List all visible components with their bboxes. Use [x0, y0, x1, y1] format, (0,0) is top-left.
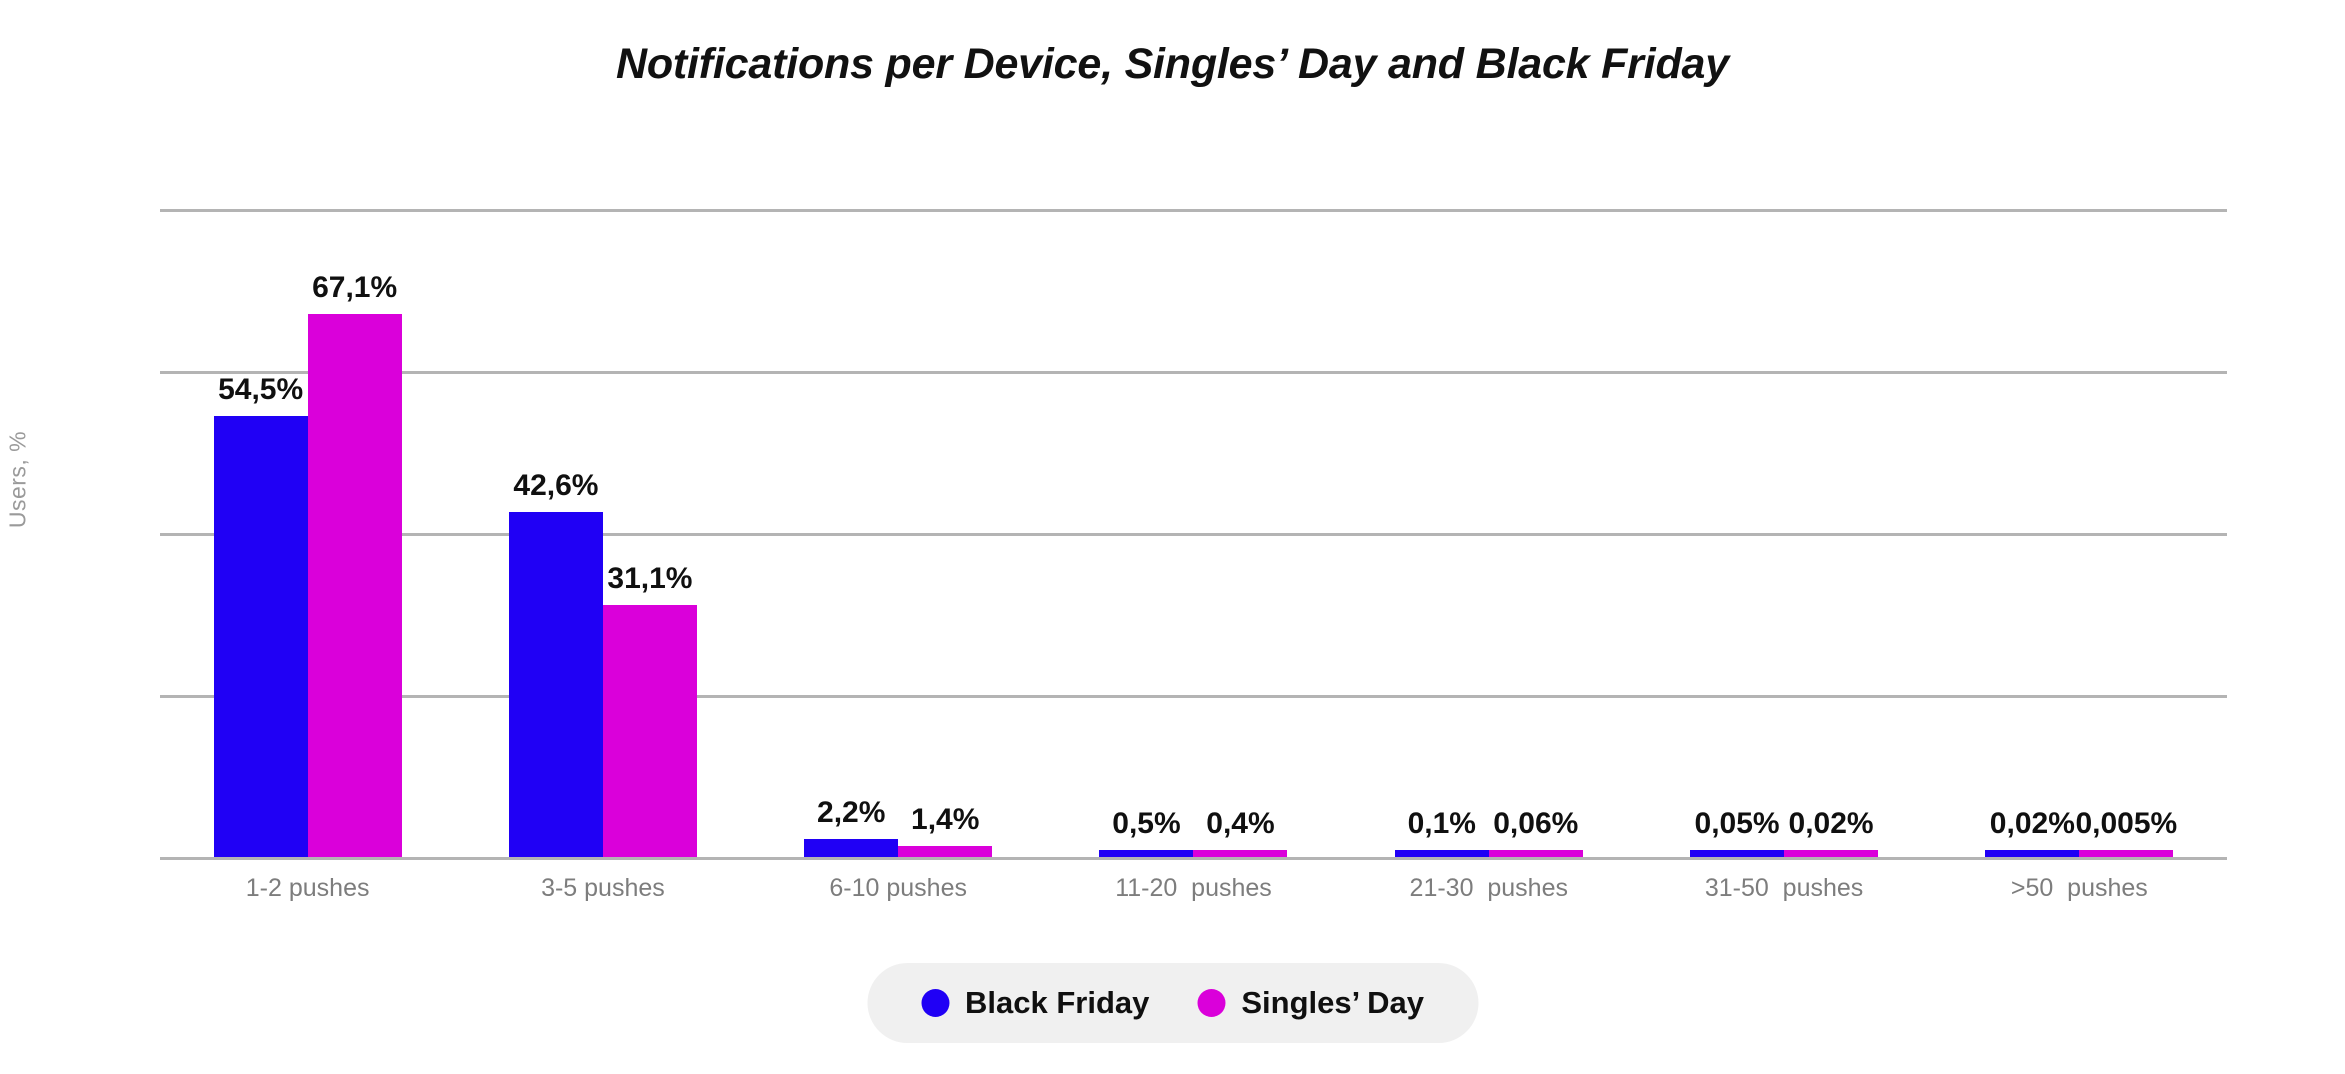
bar-value-label: 0,02% [1990, 807, 2075, 841]
bar-pair: 0,1%0,06% [1341, 195, 1636, 857]
bar-group: 54,5%67,1%1-2 pushes [160, 195, 455, 860]
bar[interactable]: 2,2% [804, 839, 898, 857]
bar-value-label: 2,2% [817, 796, 885, 830]
x-axis-category-label: 11-20 pushes [1046, 874, 1341, 903]
bar-value-label: 54,5% [218, 373, 303, 407]
bar-value-label: 0,005% [2075, 807, 2177, 841]
bar-value-label: 0,06% [1493, 807, 1578, 841]
x-axis-category-label: 3-5 pushes [455, 874, 750, 903]
x-axis-category-label: 31-50 pushes [1636, 874, 1931, 903]
plot-area: 20%40%60%80% 54,5%67,1%1-2 pushes42,6%31… [160, 195, 2227, 860]
bar[interactable]: 0,05% [1690, 850, 1784, 857]
bar-value-label: 0,02% [1789, 807, 1874, 841]
legend-item[interactable]: Singles’ Day [1197, 985, 1424, 1021]
bar-pair: 0,02%0,005% [1932, 195, 2227, 857]
bar-value-label: 0,1% [1408, 807, 1476, 841]
bar-pair: 42,6%31,1% [455, 195, 750, 857]
x-axis-category-label: 6-10 pushes [751, 874, 1046, 903]
legend-color-dot [1197, 989, 1225, 1017]
legend-label: Singles’ Day [1241, 985, 1424, 1021]
chart-legend: Black FridaySingles’ Day [867, 963, 1478, 1043]
legend-color-dot [921, 989, 949, 1017]
bar[interactable]: 0,1% [1395, 850, 1489, 857]
bar-value-label: 42,6% [513, 469, 598, 503]
bar-group: 0,02%0,005%>50 pushes [1932, 195, 2227, 860]
bar[interactable]: 1,4% [898, 846, 992, 857]
bar-group: 2,2%1,4%6-10 pushes [751, 195, 1046, 860]
legend-item[interactable]: Black Friday [921, 985, 1149, 1021]
bar[interactable]: 42,6% [509, 512, 603, 857]
x-axis-category-label: >50 pushes [1932, 874, 2227, 903]
bar[interactable]: 31,1% [603, 605, 697, 857]
bar-pair: 0,5%0,4% [1046, 195, 1341, 857]
bar-value-label: 0,5% [1112, 807, 1180, 841]
bar[interactable]: 0,5% [1099, 850, 1193, 857]
bar-pair: 54,5%67,1% [160, 195, 455, 857]
bar-chart: Notifications per Device, Singles’ Day a… [0, 0, 2345, 1074]
bar[interactable]: 0,02% [1784, 850, 1878, 857]
bar-group: 42,6%31,1%3-5 pushes [455, 195, 750, 860]
x-axis-category-label: 1-2 pushes [160, 874, 455, 903]
bar[interactable]: 0,06% [1489, 850, 1583, 857]
legend-label: Black Friday [965, 985, 1149, 1021]
bar[interactable]: 67,1% [308, 314, 402, 858]
bar-pair: 0,05%0,02% [1636, 195, 1931, 857]
y-axis-title: Users, % [5, 420, 32, 540]
bar-value-label: 0,05% [1695, 807, 1780, 841]
bar-value-label: 31,1% [607, 562, 692, 596]
bar-group: 0,1%0,06%21-30 pushes [1341, 195, 1636, 860]
bar-value-label: 0,4% [1206, 807, 1274, 841]
bar-value-label: 67,1% [312, 271, 397, 305]
bar-value-label: 1,4% [911, 803, 979, 837]
bar-group: 0,5%0,4%11-20 pushes [1046, 195, 1341, 860]
bar[interactable]: 54,5% [214, 416, 308, 857]
bar[interactable]: 0,02% [1985, 850, 2079, 857]
bar[interactable]: 0,4% [1193, 850, 1287, 857]
bar[interactable]: 0,005% [2079, 850, 2173, 857]
bar-pair: 2,2%1,4% [751, 195, 1046, 857]
chart-title: Notifications per Device, Singles’ Day a… [0, 40, 2345, 89]
x-axis-category-label: 21-30 pushes [1341, 874, 1636, 903]
bar-group: 0,05%0,02%31-50 pushes [1636, 195, 1931, 860]
